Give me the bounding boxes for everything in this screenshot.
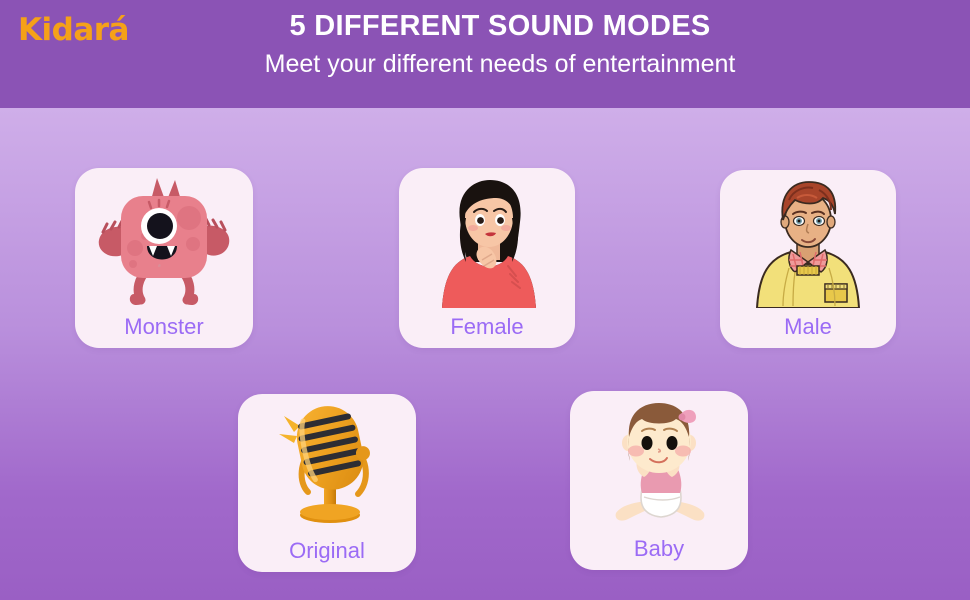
sound-mode-card-baby[interactable]: Baby	[570, 391, 748, 570]
page-title: 5 DIFFERENT SOUND MODES	[150, 6, 850, 46]
page-subtitle: Meet your different needs of entertainme…	[150, 46, 850, 82]
card-label-male: Male	[720, 314, 896, 340]
card-label-monster: Monster	[75, 314, 253, 340]
sound-mode-card-male[interactable]: Male	[720, 170, 896, 348]
card-label-baby: Baby	[570, 536, 748, 562]
sound-mode-card-original[interactable]: Original	[238, 394, 416, 572]
sound-modes-banner: Kidará 5 DIFFERENT SOUND MODES Meet your…	[0, 0, 970, 600]
microphone-icon	[238, 400, 416, 534]
banner-header: Kidará 5 DIFFERENT SOUND MODES Meet your…	[0, 0, 970, 108]
sound-mode-card-female[interactable]: Female	[399, 168, 575, 348]
card-label-original: Original	[238, 538, 416, 564]
header-text-block: 5 DIFFERENT SOUND MODES Meet your differ…	[150, 6, 850, 82]
male-avatar-icon	[720, 176, 896, 310]
card-label-female: Female	[399, 314, 575, 340]
brand-logo: Kidará	[18, 12, 129, 48]
sound-mode-card-monster[interactable]: Monster	[75, 168, 253, 348]
monster-icon	[75, 174, 253, 308]
baby-icon	[570, 397, 748, 531]
female-avatar-icon	[399, 174, 575, 308]
